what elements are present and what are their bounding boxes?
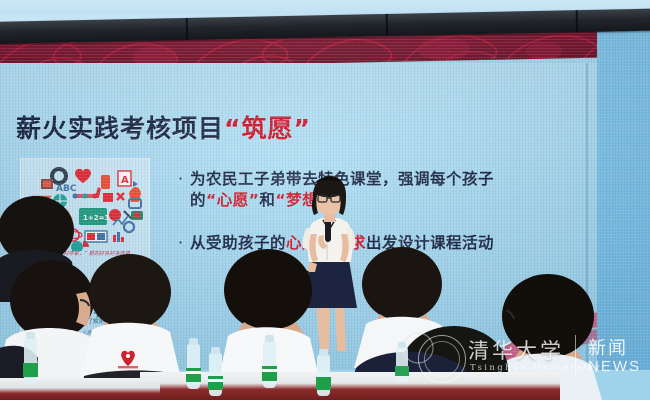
watermark-university-en: Tsinghua University	[470, 363, 602, 373]
watermark-university-cn: 清华大学	[468, 335, 564, 365]
watermark-news-cn: 新闻	[588, 334, 628, 360]
tsinghua-seal-icon	[418, 335, 466, 383]
watermark: 清华大学 Tsinghua University 新闻 NEWS	[418, 333, 646, 395]
audience-table-left	[0, 378, 160, 400]
screenshot-root: 薪火实践考核项目“筑愿” · 为农民工子弟带去特色课堂，强调每个孩子 的“心愿”…	[0, 0, 650, 400]
watermark-news-en: NEWS	[588, 358, 641, 375]
watermark-divider	[575, 335, 576, 377]
